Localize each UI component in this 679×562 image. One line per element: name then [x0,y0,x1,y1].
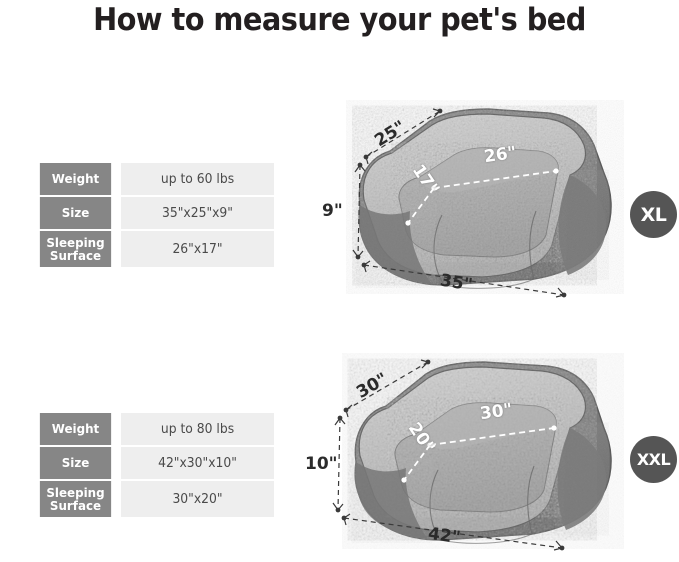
spec-label-weight: Weight [40,163,111,195]
pet-bed-illustration-xxl: 30" 10" 42" 30" 20" [300,350,630,555]
spec-table-xxl: Weight up to 80 lbs Size 42"x30"x10" Sle… [38,413,278,517]
spec-value-sleeping-surface: 30"x20" [121,481,274,517]
spec-label-size: Size [40,447,111,479]
table-row: Weight up to 80 lbs [38,413,278,445]
spec-label-weight: Weight [40,413,111,445]
spec-value-weight: up to 60 lbs [121,163,274,195]
spec-table-xl: Weight up to 60 lbs Size 35"x25"x9" Slee… [38,163,278,267]
spec-value-sleeping-surface: 26"x17" [121,231,274,267]
spec-value-weight: up to 80 lbs [121,413,274,445]
spec-label-size: Size [40,197,111,229]
spec-value-size: 42"x30"x10" [121,447,274,479]
size-badge-xxl: XXL [630,436,677,483]
dimension-label-width: 42" [427,524,462,548]
bed-drawing-xxl [300,350,630,555]
dimension-label-height: 9" [322,201,343,221]
spec-label-sleeping-surface-line2: Surface [50,248,101,263]
table-row: Sleeping Surface 30"x20" [38,481,278,517]
spec-label-sleeping-surface-line2: Surface [50,498,101,513]
page-title: How to measure your pet's bed [24,2,655,38]
table-row: Weight up to 60 lbs [38,163,278,195]
pet-bed-illustration-xl: 25" 9" 35" 26" 17" [312,95,632,310]
spec-label-sleeping-surface: Sleeping Surface [40,481,111,517]
table-row: Sleeping Surface 26"x17" [38,231,278,267]
spec-label-sleeping-surface: Sleeping Surface [40,231,111,267]
table-row: Size 42"x30"x10" [38,447,278,479]
size-badge-xl: XL [630,191,677,238]
spec-value-size: 35"x25"x9" [121,197,274,229]
dimension-label-height: 10" [305,454,338,474]
table-row: Size 35"x25"x9" [38,197,278,229]
